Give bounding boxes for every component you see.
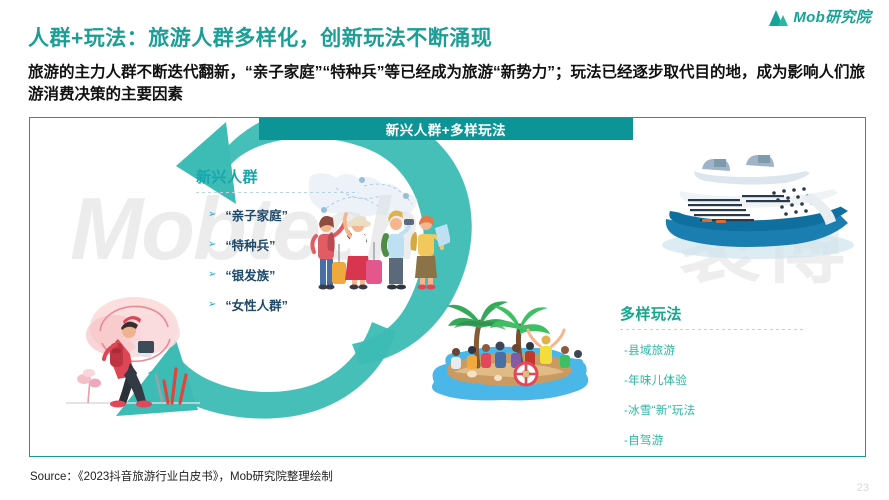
list-item: ➢ “银发族”	[196, 265, 371, 284]
list-item: ➢ “特种兵”	[196, 235, 371, 254]
chevron-right-icon: ➢	[208, 300, 216, 310]
list-item: ➢ “女性人群”	[196, 295, 371, 314]
page-subtitle: 旅游的主力人群不断迭代翻新，“亲子家庭”“特种兵”等已经成为旅游“新势力”；玩法…	[28, 62, 870, 106]
list-item-label: “女性人群”	[225, 295, 288, 314]
brand-logo-text: Mob研究院	[793, 6, 871, 27]
cruise-ship-illustration	[650, 153, 865, 263]
content-frame: Mobtech 袤博 新兴人群+多样玩法	[29, 117, 866, 457]
brand-logo: Mob研究院	[769, 6, 871, 27]
chevron-right-icon: ➢	[208, 270, 216, 280]
backpacker-walking-cherry-blossom-illustration	[52, 283, 212, 428]
list-item: -自驾游	[624, 432, 820, 448]
list-item: -冰雪“新”玩法	[624, 402, 820, 418]
diverse-playstyles-heading: 多样玩法	[620, 303, 820, 324]
tropical-island-celebration-illustration	[420, 278, 610, 408]
emerging-groups-divider	[196, 192, 359, 193]
slide-root: Mob研究院 人群+玩法：旅游人群多样化，创新玩法不断涌现 旅游的主力人群不断迭…	[0, 0, 889, 500]
chevron-right-icon: ➢	[208, 210, 216, 220]
page-number: 23	[857, 482, 869, 494]
emerging-groups-heading: 新兴人群	[196, 166, 371, 187]
source-note: Source：《2023抖音旅游行业白皮书》，Mob研究院整理绘制	[30, 468, 333, 484]
list-item: -年味儿体验	[624, 372, 820, 388]
list-item: -县域旅游	[624, 342, 820, 358]
diverse-playstyles-list: -县域旅游 -年味儿体验 -冰雪“新”玩法 -自驾游 -…	[620, 342, 820, 457]
page-title: 人群+玩法：旅游人群多样化，创新玩法不断涌现	[28, 22, 492, 52]
diverse-playstyles-section: 多样玩法 -县域旅游 -年味儿体验 -冰雪“新”玩法 -自驾游 -…	[620, 303, 820, 457]
list-item-label: “特种兵”	[225, 235, 275, 254]
mountain-logo-icon	[769, 8, 788, 26]
section-banner: 新兴人群+多样玩法	[259, 118, 633, 140]
chevron-right-icon: ➢	[208, 240, 216, 250]
list-item-label: “银发族”	[225, 265, 275, 284]
emerging-groups-section: 新兴人群 ➢ “亲子家庭” ➢ “特种兵” ➢ “银发族” ➢ “女性人群”	[196, 166, 371, 325]
list-item-label: “亲子家庭”	[225, 205, 288, 224]
diverse-playstyles-divider	[620, 329, 806, 330]
emerging-groups-list: ➢ “亲子家庭” ➢ “特种兵” ➢ “银发族” ➢ “女性人群”	[196, 205, 371, 314]
list-item: ➢ “亲子家庭”	[196, 205, 371, 224]
